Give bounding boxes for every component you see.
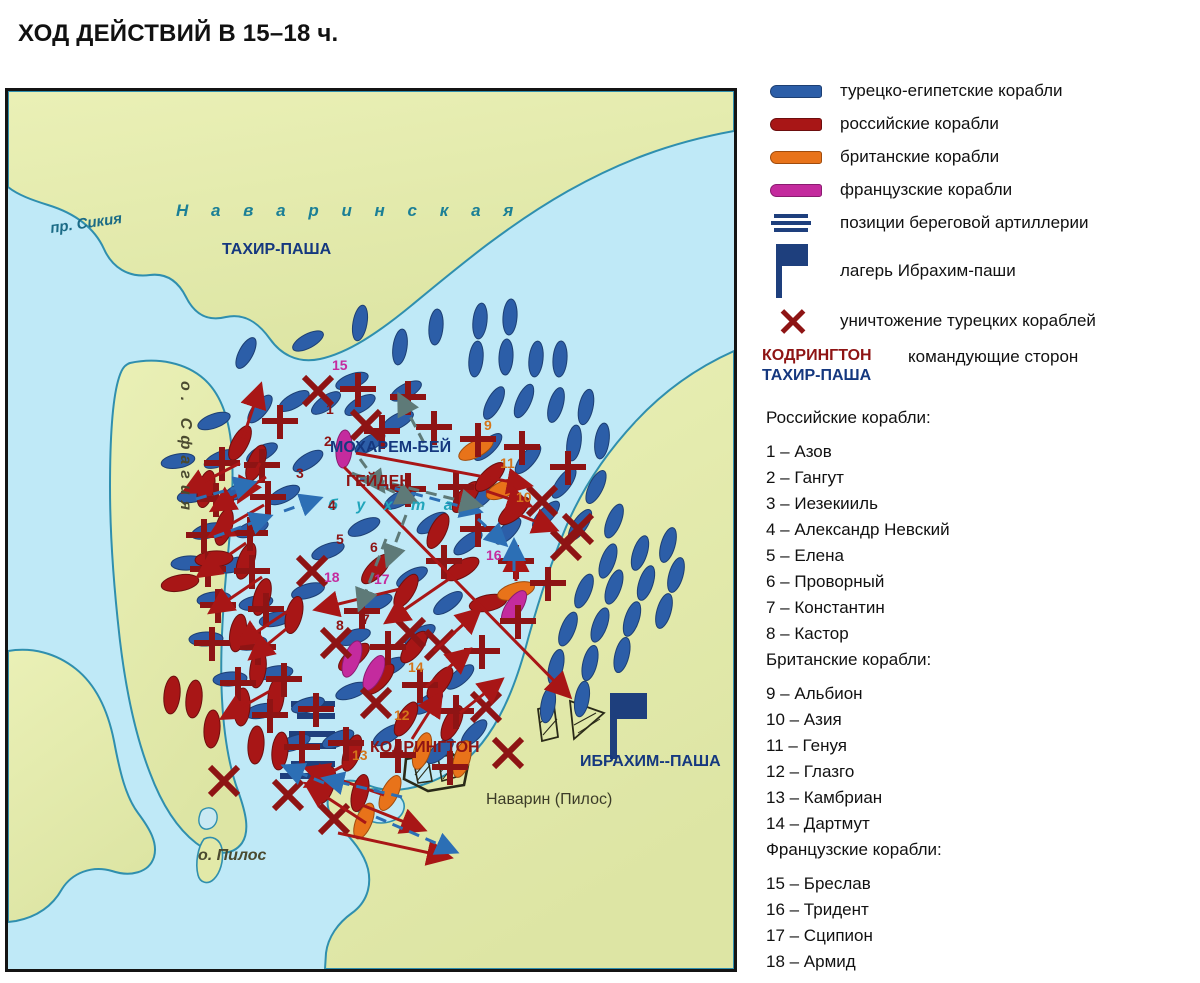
list-item: 15 – Бреслав — [766, 871, 1196, 897]
legend-label-coastal-artillery: позиции береговой артиллерии — [840, 213, 1088, 233]
legend-item-russian-ships: российские корабли — [762, 111, 1194, 137]
list-item: 10 – Азия — [766, 707, 1196, 733]
legend-commanders: КОДРИНГТОН ТАХИР-ПАША командующие сторон — [762, 346, 1194, 386]
fleet-list-russian: Российские корабли: 1 – Азов 2 – Гангут … — [766, 408, 1196, 647]
ship-orange-icon — [762, 151, 840, 164]
legend-item-ibrahim-camp: лагерь Ибрахим-паши — [762, 243, 1194, 299]
commander-name-allied: КОДРИНГТОН — [762, 346, 894, 366]
ship-blue-icon — [762, 85, 840, 98]
ship-magenta-icon — [762, 184, 840, 197]
list-item: 13 – Камбриан — [766, 785, 1196, 811]
list-item: 16 – Тридент — [766, 897, 1196, 923]
legend-label-turkish-ships: турецко-египетские корабли — [840, 81, 1063, 101]
legend-item-french-ships: французские корабли — [762, 177, 1194, 203]
fleet-heading-british: Британские корабли: — [766, 650, 1196, 670]
list-item: 17 – Сципион — [766, 923, 1196, 949]
list-item: 3 – Иезекииль — [766, 491, 1196, 517]
list-item: 12 – Глазго — [766, 759, 1196, 785]
commander-name-ottoman: ТАХИР-ПАША — [762, 366, 894, 386]
coastal-artillery-icon — [762, 212, 840, 234]
list-item: 5 – Елена — [766, 543, 1196, 569]
map-graphics — [8, 91, 734, 969]
battle-map[interactable]: Н а в а р и н с к а я б у х т а пр. Сики… — [5, 88, 737, 972]
legend-label-british-ships: британские корабли — [840, 147, 999, 167]
fleet-list-french: Французские корабли: 15 – Бреслав 16 – Т… — [766, 840, 1196, 975]
legend-label-russian-ships: российские корабли — [840, 114, 999, 134]
map-legend: турецко-египетские корабли российские ко… — [762, 78, 1194, 343]
list-item: 4 – Александр Невский — [766, 517, 1196, 543]
legend-item-coastal-artillery: позиции береговой артиллерии — [762, 210, 1194, 236]
list-item: 11 – Генуя — [766, 733, 1196, 759]
fleet-heading-french: Французские корабли: — [766, 840, 1196, 860]
ship-red-icon — [762, 118, 840, 131]
legend-item-turkish-ships: турецко-египетские корабли — [762, 78, 1194, 104]
fleet-list-british: Британские корабли: 9 – Альбион 10 – Ази… — [766, 650, 1196, 837]
flag-icon — [762, 244, 840, 298]
legend-label-ibrahim-camp: лагерь Ибрахим-паши — [840, 261, 1016, 281]
list-item: 18 – Армид — [766, 949, 1196, 975]
commanders-description: командующие сторон — [894, 346, 1078, 367]
list-item: 8 – Кастор — [766, 621, 1196, 647]
page-title: ХОД ДЕЙСТВИЙ В 15–18 ч. — [18, 20, 338, 48]
list-item: 9 – Альбион — [766, 681, 1196, 707]
fleet-heading-russian: Российские корабли: — [766, 408, 1196, 428]
legend-label-destroyed-ships: уничтожение турецких кораблей — [840, 311, 1096, 331]
legend-item-british-ships: британские корабли — [762, 144, 1194, 170]
list-item: 7 – Константин — [766, 595, 1196, 621]
list-item: 14 – Дартмут — [766, 811, 1196, 837]
x-mark-icon — [762, 306, 840, 336]
legend-item-destroyed-ships: уничтожение турецких кораблей — [762, 306, 1194, 336]
list-item: 6 – Проворный — [766, 569, 1196, 595]
commander-names: КОДРИНГТОН ТАХИР-ПАША — [762, 346, 894, 386]
list-item: 2 – Гангут — [766, 465, 1196, 491]
list-item: 1 – Азов — [766, 439, 1196, 465]
legend-label-french-ships: французские корабли — [840, 180, 1012, 200]
